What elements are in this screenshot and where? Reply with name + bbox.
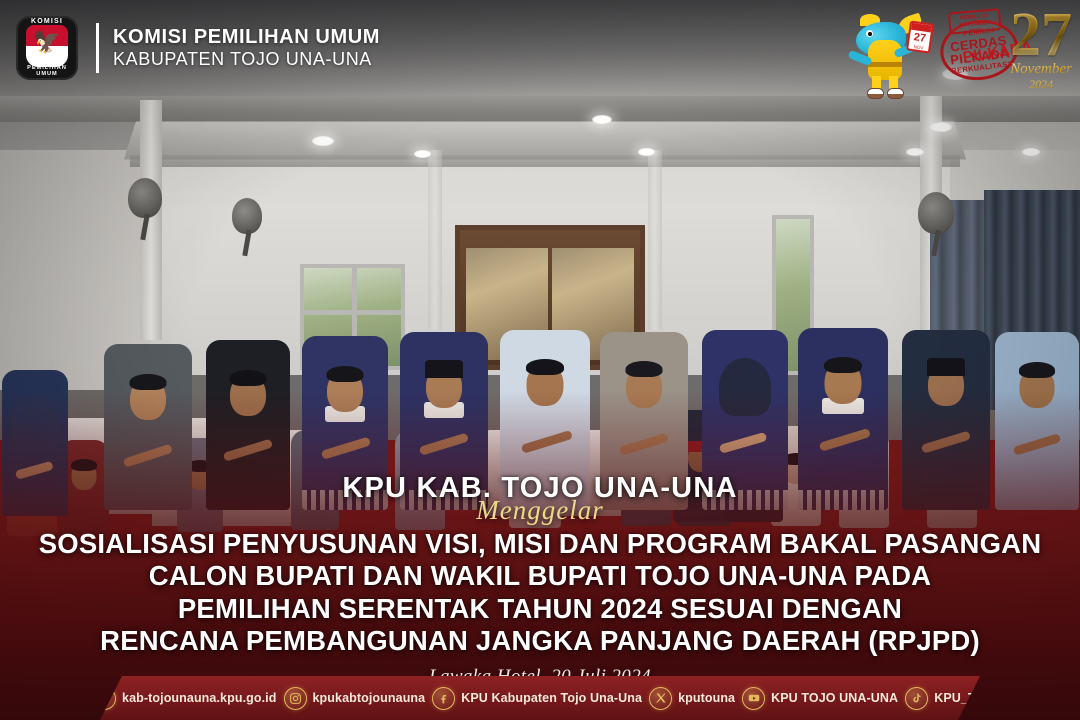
social-label-tiktok: KPU_Touna [934, 691, 1005, 705]
social-item-facebook[interactable]: KPU Kabupaten Tojo Una-Una [432, 687, 642, 710]
x-twitter-icon [649, 687, 672, 710]
globe-icon [93, 687, 116, 710]
header-divider [96, 23, 99, 73]
date-badge-year: 2024 [1004, 77, 1078, 92]
kpu-logo-icon: KOMISI 🦅 PEMILIHAN UMUM [16, 16, 78, 80]
poster-title-block: KPU KAB. TOJO UNA-UNA Menggelar SOSIALIS… [0, 472, 1080, 688]
stamp-date-tag: PEMILU 27 NOVEMBER 2024 [948, 8, 1002, 34]
social-item-website[interactable]: kab-tojounauna.kpu.go.id [93, 687, 276, 710]
title-main-line-4: RENCANA PEMBANGUNAN JANGKA PANJANG DAERA… [0, 625, 1080, 657]
header-text-group: KOMISI PEMILIHAN UMUM KABUPATEN TOJO UNA… [113, 26, 380, 71]
title-script-line: Menggelar [0, 495, 1080, 526]
social-item-x[interactable]: kputouna [649, 687, 735, 710]
title-main-line-2: CALON BUPATI DAN WAKIL BUPATI TOJO UNA-U… [0, 560, 1080, 592]
pemilu-fish-mascot-icon: 27 NOV [842, 6, 934, 102]
youtube-icon [742, 687, 765, 710]
social-item-youtube[interactable]: KPU TOJO UNA-UNA [742, 687, 898, 710]
header-subtitle: KABUPATEN TOJO UNA-UNA [113, 49, 380, 71]
social-item-tiktok[interactable]: KPU_Touna [905, 687, 1005, 710]
mascot-calendar-icon: 27 NOV [906, 20, 934, 53]
date-badge-month: November [1004, 61, 1078, 78]
kpu-logo-top-text: KOMISI [16, 18, 78, 25]
social-label-x: kputouna [678, 691, 735, 705]
social-label-youtube: KPU TOJO UNA-UNA [771, 691, 898, 705]
social-media-bar: kab-tojounauna.kpu.go.id kpukabtojounaun… [0, 676, 1080, 720]
instagram-icon [284, 687, 307, 710]
garuda-icon: 🦅 [33, 31, 60, 53]
title-main-line-1: SOSIALISASI PENYUSUNAN VISI, MISI DAN PR… [0, 528, 1080, 560]
title-main-line-3: PEMILIHAN SERENTAK TAHUN 2024 SESUAI DEN… [0, 593, 1080, 625]
tiktok-icon [905, 687, 928, 710]
mascot-calendar-number: 27 [909, 30, 931, 47]
poster-canvas: KOMISI 🦅 PEMILIHAN UMUM KOMISI PEMILIHAN… [0, 0, 1080, 720]
election-date-badge: 27 November 2024 [1004, 6, 1078, 102]
kpu-logo-bottom-text: PEMILIHAN UMUM [16, 65, 78, 77]
facebook-icon [432, 687, 455, 710]
social-label-website: kab-tojounauna.kpu.go.id [122, 691, 276, 705]
date-badge-number: 27 [1004, 6, 1078, 65]
title-main-text: SOSIALISASI PENYUSUNAN VISI, MISI DAN PR… [0, 528, 1080, 658]
social-label-instagram: kpukabtojounauna [313, 691, 426, 705]
social-label-facebook: KPU Kabupaten Tojo Una-Una [461, 691, 642, 705]
social-item-instagram[interactable]: kpukabtojounauna [284, 687, 426, 710]
header-title: KOMISI PEMILIHAN UMUM [113, 26, 380, 49]
